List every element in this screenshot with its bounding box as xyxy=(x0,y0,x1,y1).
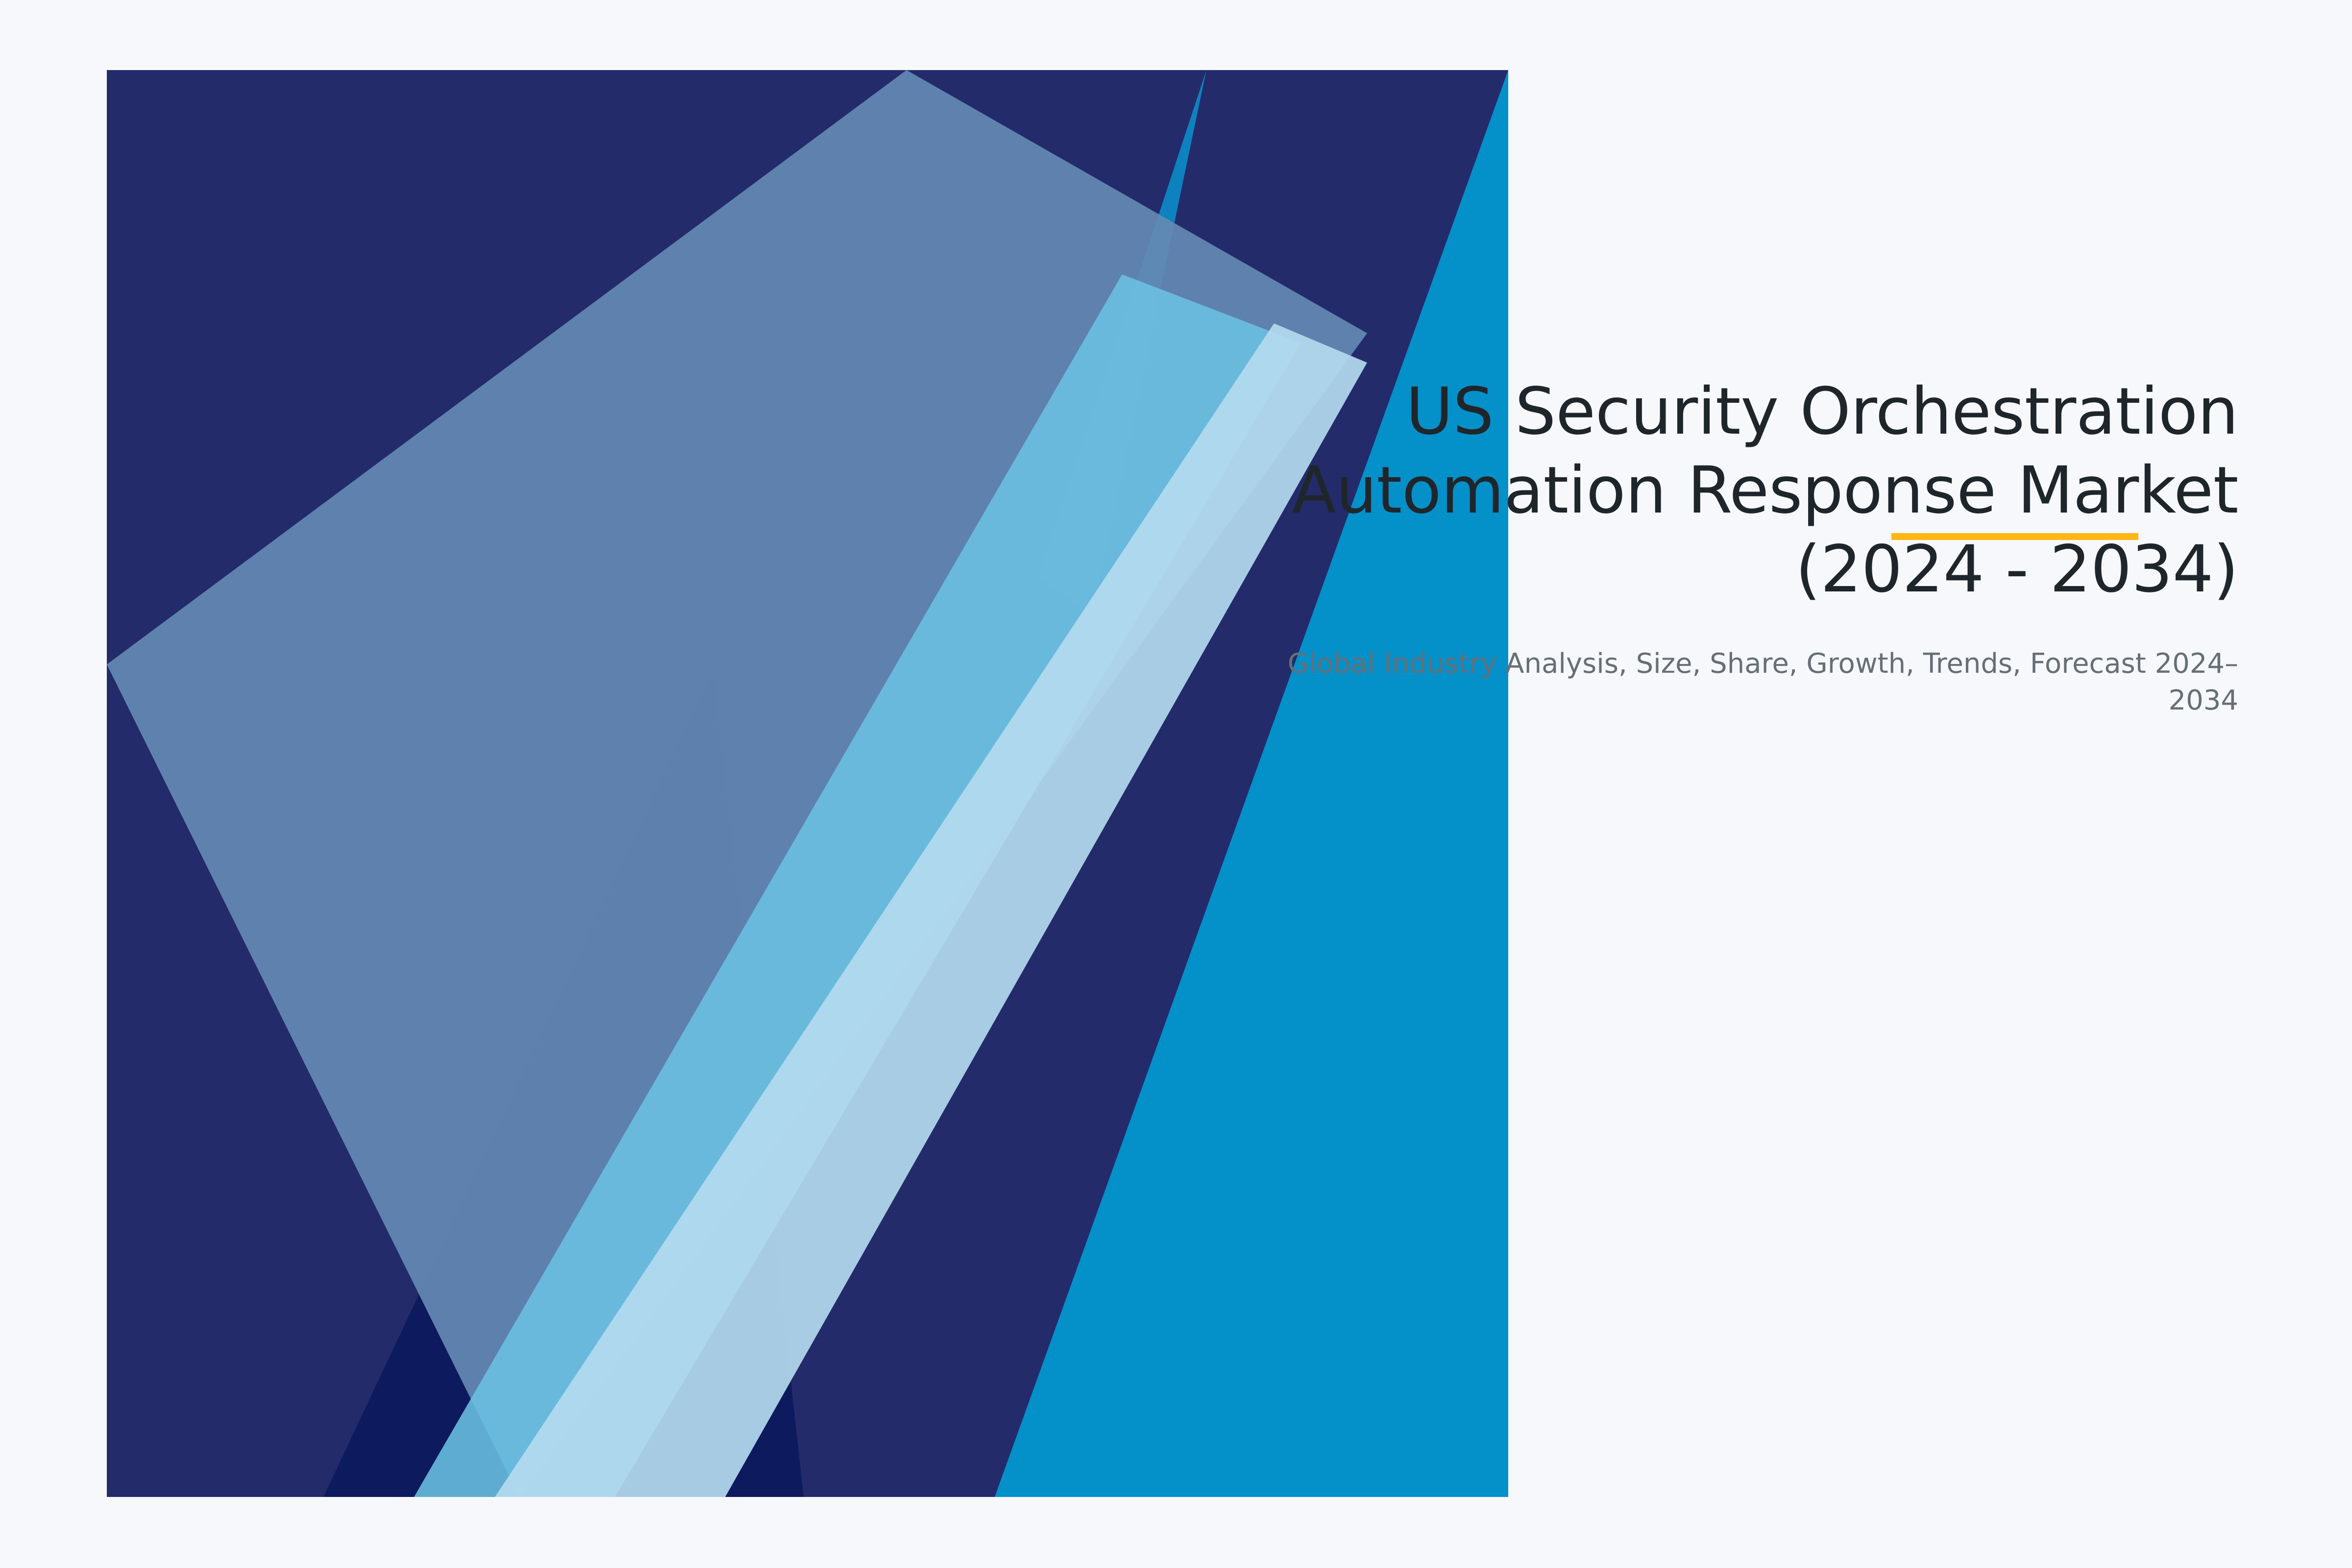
title-accent-underline xyxy=(1891,533,2138,540)
page-subtitle: Global Industry Analysis, Size, Share, G… xyxy=(1229,645,2238,719)
cover-text-block: US Security Orchestration Automation Res… xyxy=(1229,372,2238,719)
cover-page: US Security Orchestration Automation Res… xyxy=(0,0,2352,1568)
abstract-geometric-artwork xyxy=(0,0,2352,1568)
page-title: US Security Orchestration Automation Res… xyxy=(1229,372,2238,609)
